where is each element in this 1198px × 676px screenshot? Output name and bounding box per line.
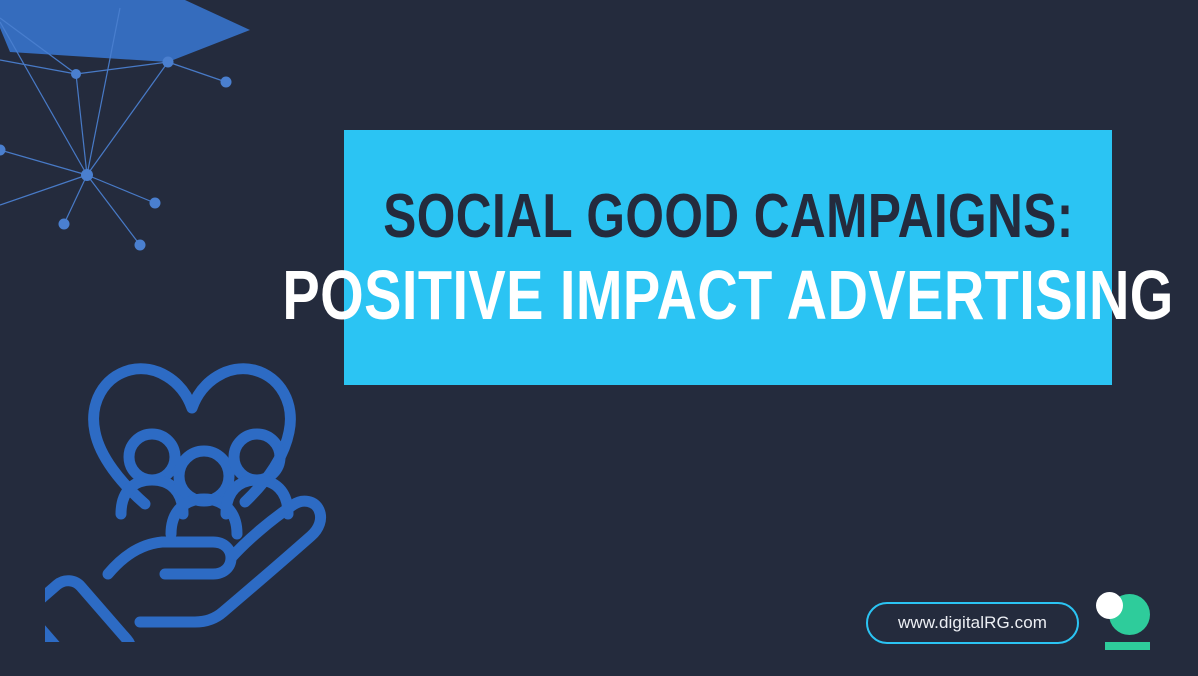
heart-hands-people-icon xyxy=(45,352,335,642)
network-edges xyxy=(0,8,226,245)
network-nodes-graphic xyxy=(0,0,270,270)
network-nodes xyxy=(0,57,232,251)
hand-cuff xyxy=(45,574,138,642)
footer-bar: www.digitalRG.com xyxy=(866,592,1156,654)
logo-white-circle xyxy=(1096,592,1123,619)
title-line-secondary: POSITIVE IMPACT ADVERTISING xyxy=(282,260,1173,330)
title-line-primary: SOCIAL GOOD CAMPAIGNS: xyxy=(383,186,1073,248)
presentation-slide: SOCIAL GOOD CAMPAIGNS: POSITIVE IMPACT A… xyxy=(0,0,1198,676)
person-head-right xyxy=(234,434,280,480)
network-polygon xyxy=(0,0,250,62)
person-head-left xyxy=(129,434,175,480)
title-banner: SOCIAL GOOD CAMPAIGNS: POSITIVE IMPACT A… xyxy=(344,130,1112,385)
website-url-text: www.digitalRG.com xyxy=(898,613,1047,633)
brand-logo xyxy=(1096,592,1150,654)
logo-green-bar xyxy=(1105,642,1150,650)
hand-fingers xyxy=(108,542,231,574)
website-url-pill[interactable]: www.digitalRG.com xyxy=(866,602,1079,644)
